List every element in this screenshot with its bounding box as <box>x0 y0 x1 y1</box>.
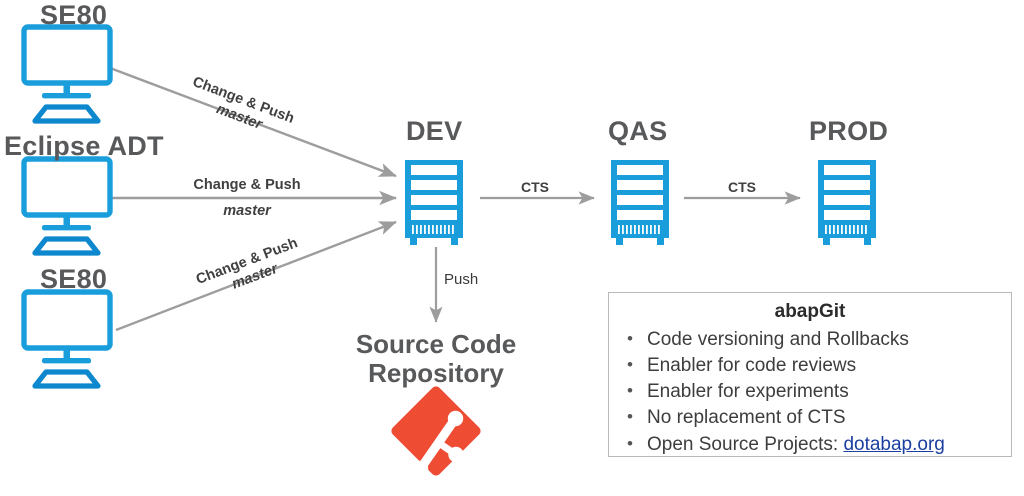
bullet-glyph: • <box>627 379 633 402</box>
list-item: • No replacement of CTS <box>647 405 1001 431</box>
system-label-prod: PROD <box>809 118 888 145</box>
edge-label-qas-to-prod: CTS <box>728 179 756 195</box>
list-item-text: Code versioning and Rollbacks <box>647 329 909 350</box>
list-item: • Code versioning and Rollbacks <box>647 327 1001 353</box>
list-item: • Enabler for experiments <box>647 379 1001 405</box>
bullet-glyph: • <box>627 327 633 350</box>
dotabap-link[interactable]: dotabap.org <box>843 434 944 455</box>
list-item-text: Enabler for code reviews <box>647 355 856 376</box>
monitor-icon <box>24 159 110 253</box>
git-logo-icon <box>389 384 482 477</box>
edge-label-dev-to-repo: Push <box>444 271 478 288</box>
bullet-glyph: • <box>627 432 633 455</box>
source-label-se80-top: SE80 <box>40 2 107 29</box>
system-label-dev: DEV <box>406 118 462 145</box>
edge-label-dev-to-qas: CTS <box>521 179 549 195</box>
list-item-text: Open Source Projects: <box>647 434 843 455</box>
list-item-text: Enabler for experiments <box>647 381 849 402</box>
list-item: • Enabler for code reviews <box>647 353 1001 379</box>
monitor-icon <box>24 292 110 386</box>
list-item: • Open Source Projects: dotabap.org <box>647 432 1001 458</box>
edge-secondary-label: master <box>187 203 307 220</box>
monitor-icon <box>24 27 110 121</box>
repository-label-line2: Repository <box>336 359 536 388</box>
list-item-text: No replacement of CTS <box>647 407 846 428</box>
server-icon <box>818 160 876 245</box>
source-label-se80-bottom: SE80 <box>40 266 107 293</box>
edge-primary-label: Change & Push <box>187 177 307 194</box>
bullet-glyph: • <box>627 353 633 376</box>
server-icon <box>405 160 463 245</box>
abapgit-info-box: abapGit • Code versioning and Rollbacks … <box>608 292 1012 457</box>
info-box-title: abapGit <box>619 301 1001 324</box>
server-icon <box>611 160 669 245</box>
repository-label: Source Code Repository <box>336 330 536 388</box>
edge-label-eclipse-to-dev-secondary: master <box>187 203 307 220</box>
repository-label-line1: Source Code <box>336 330 536 359</box>
edge-label-eclipse-to-dev-primary: Change & Push <box>187 177 307 194</box>
bullet-glyph: • <box>627 405 633 428</box>
source-label-eclipse-adt: Eclipse ADT <box>4 133 164 160</box>
system-label-qas: QAS <box>608 118 667 145</box>
info-box-list: • Code versioning and Rollbacks • Enable… <box>619 327 1001 458</box>
